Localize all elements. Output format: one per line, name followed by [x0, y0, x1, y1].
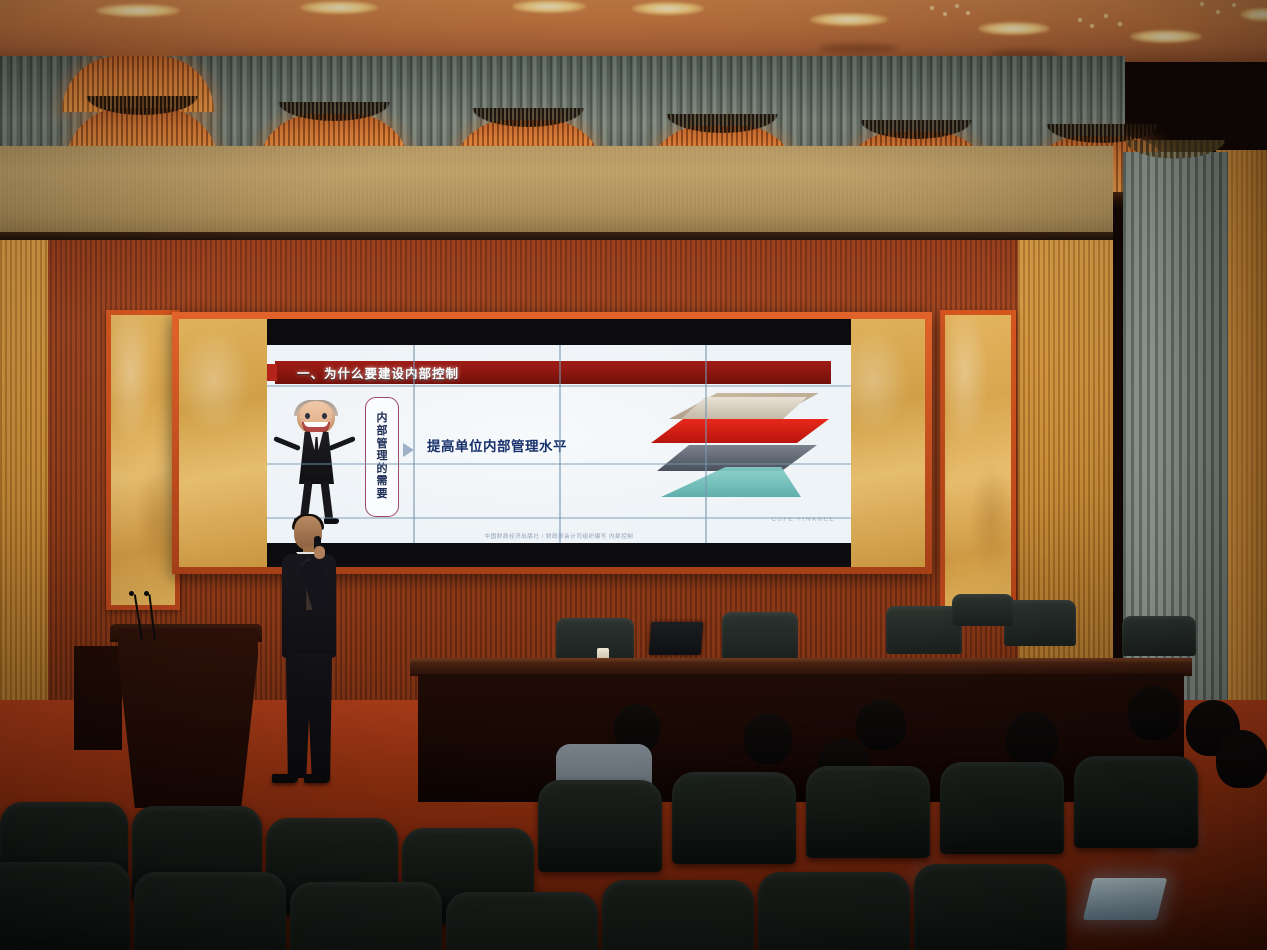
screen-side-marble-left — [179, 319, 267, 567]
wall-marble-panel — [940, 310, 1016, 612]
head-table-chair — [1004, 600, 1076, 646]
vertical-label-char: 需 — [377, 476, 388, 488]
marble-texture — [945, 315, 1011, 607]
head-table-chair — [952, 594, 1014, 626]
chandelier-icon — [1232, 3, 1236, 7]
video-wall-bezel — [267, 385, 851, 387]
head-table — [418, 674, 1184, 802]
cartoon-teeth — [304, 422, 328, 427]
audience-seat — [672, 772, 796, 864]
vertical-label-char: 的 — [377, 464, 388, 476]
ceiling-light — [512, 0, 586, 13]
stacked-layers-graphic — [647, 393, 829, 501]
valance-fringe — [248, 102, 420, 132]
vertical-label-char: 管 — [377, 439, 388, 451]
audience-seat — [538, 780, 662, 872]
chandelier-icon — [943, 12, 947, 16]
audience-seat — [1074, 756, 1198, 848]
head-table-chair — [886, 606, 962, 654]
presentation-slide: 一、为什么要建设内部控制 — [267, 345, 851, 543]
chandelier-icon — [955, 4, 959, 8]
video-wall-bezel — [267, 517, 851, 519]
led-video-wall[interactable]: 一、为什么要建设内部控制 — [267, 319, 851, 567]
ceiling-light — [978, 22, 1050, 35]
video-wall-bezel — [559, 345, 561, 543]
audience-head — [1128, 686, 1180, 740]
ceiling-light-shadow — [818, 44, 898, 53]
head-table-chair — [1122, 616, 1196, 656]
valance-fringe — [442, 108, 614, 138]
video-wall-bezel — [267, 463, 851, 465]
audience-seat — [602, 880, 754, 950]
slide-title-bar: 一、为什么要建设内部控制 — [275, 361, 831, 384]
cartoon-eye — [305, 413, 310, 419]
pyramid-layer-teal — [661, 467, 801, 497]
vertical-label-char: 内 — [377, 413, 388, 425]
upper-wall-band — [0, 146, 1113, 236]
chandelier-icon — [1090, 24, 1094, 28]
vertical-label-box: 内 部 管 理 的 需 要 — [365, 397, 399, 517]
chandelier-icon — [1250, 14, 1254, 18]
slide-title: 一、为什么要建设内部控制 — [275, 363, 459, 382]
vertical-label-char: 要 — [377, 489, 388, 501]
valance-fringe — [636, 114, 808, 144]
curtain-pleats — [1123, 152, 1228, 746]
video-wall-bezel — [413, 345, 415, 543]
presenter-shoe — [304, 774, 330, 783]
chandelier-icon — [1200, 2, 1204, 6]
ceiling-light — [300, 1, 378, 14]
ceiling-light — [632, 2, 704, 15]
audience-seat — [446, 892, 598, 950]
wood-panel-left — [0, 240, 48, 710]
audience-seat — [0, 862, 130, 950]
microphone-head-icon — [144, 591, 149, 596]
cartoon-businessman-icon — [277, 401, 355, 521]
vertical-label-char: 部 — [377, 426, 388, 438]
valance-fringe — [56, 96, 228, 126]
audience-head — [856, 700, 906, 750]
ceiling-light — [96, 4, 180, 17]
wall-marble-panel — [106, 310, 180, 610]
presenter-shoe — [272, 774, 298, 783]
presenter-hand — [314, 546, 325, 559]
cartoon-eye — [322, 413, 327, 419]
audience-seat — [914, 864, 1066, 950]
presenter-legs — [286, 654, 332, 778]
marble-texture — [111, 315, 175, 605]
presenter — [262, 516, 354, 798]
cartoon-arm-left — [273, 436, 301, 451]
audience-head — [1216, 730, 1267, 788]
audience-seat — [806, 766, 930, 858]
head-table-chair — [722, 612, 798, 660]
audience-head — [744, 714, 792, 764]
tablet-screen[interactable] — [1083, 878, 1167, 920]
chandelier-icon — [966, 11, 970, 15]
chandelier-icon — [930, 6, 934, 10]
chandelier-icon — [1216, 10, 1220, 14]
chandelier-icon — [1078, 18, 1082, 22]
audience-seat — [290, 882, 442, 950]
wall-texture — [0, 146, 1113, 236]
chandelier-icon — [1118, 22, 1122, 26]
microphone-head-icon — [129, 591, 134, 596]
cartoon-arm-right — [328, 436, 356, 451]
ceiling-light — [1130, 30, 1202, 43]
chandelier-icon — [1104, 14, 1108, 18]
audience-seat — [758, 872, 910, 950]
audience-seat — [940, 762, 1064, 854]
vertical-label-char: 理 — [377, 451, 388, 463]
pyramid-layer-red — [651, 419, 829, 443]
stage-curtain-right — [1123, 152, 1228, 746]
lectern-side — [74, 646, 122, 750]
conference-hall-photo: 一、为什么要建设内部控制 — [0, 0, 1267, 950]
ceiling-light — [810, 13, 888, 26]
audience-seat — [134, 872, 286, 950]
laptop[interactable] — [649, 622, 704, 655]
audience-head — [1006, 712, 1058, 766]
curtain-fringe — [1110, 140, 1240, 166]
slide-body-text: 提高单位内部管理水平 — [427, 435, 567, 455]
lectern — [118, 628, 258, 808]
video-wall-bezel — [705, 345, 707, 543]
wood-ribs — [0, 240, 48, 710]
